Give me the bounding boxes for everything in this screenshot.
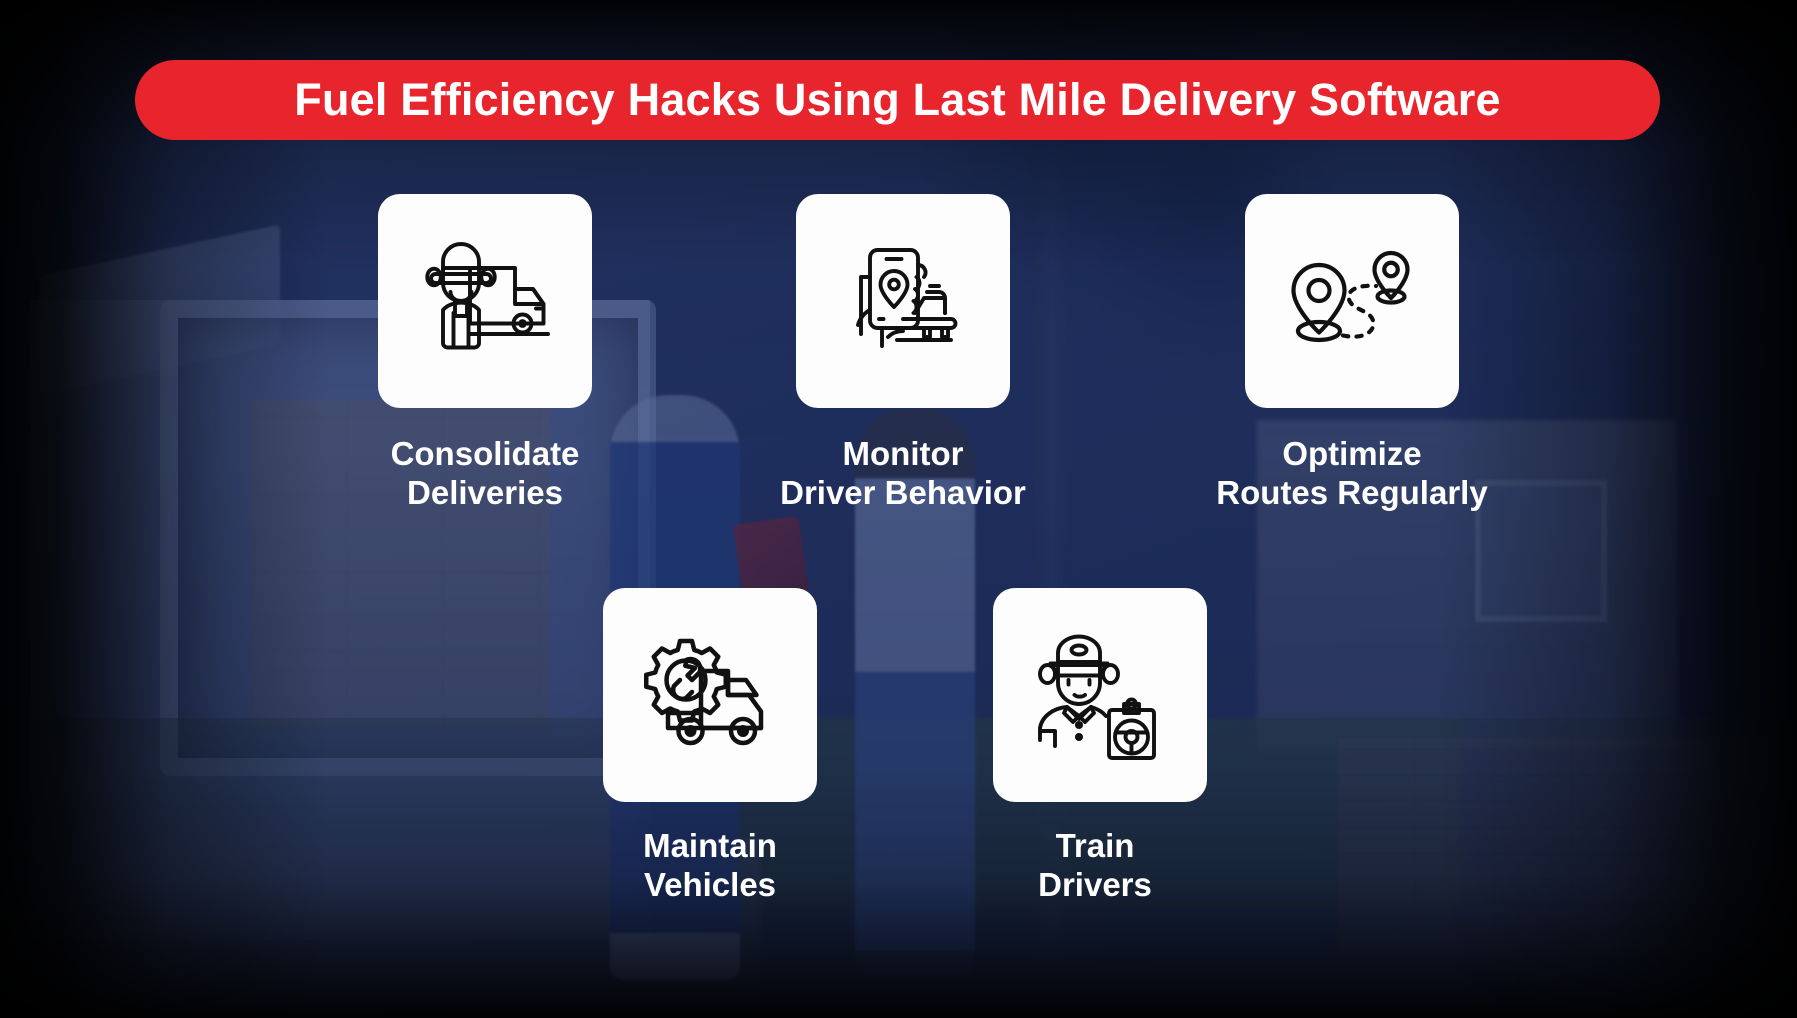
icon-card-monitor-driver-behavior[interactable] [796, 194, 1010, 408]
label-optimize-routes-regularly: Optimize Routes Regularly [1142, 435, 1562, 513]
icon-card-train-drivers[interactable] [993, 588, 1207, 802]
label-maintain-vehicles: Maintain Vehicles [500, 827, 920, 905]
label-monitor-driver-behavior: Monitor Driver Behavior [693, 435, 1113, 513]
icon-card-consolidate-deliveries[interactable] [378, 194, 592, 408]
hand-phone-location-car-icon [828, 226, 978, 376]
icon-card-maintain-vehicles[interactable] [603, 588, 817, 802]
label-train-drivers: Train Drivers [885, 827, 1305, 905]
infographic-stage: Fuel Efficiency Hacks Using Last Mile De… [0, 0, 1797, 1018]
driver-clipboard-steering-wheel-icon [1025, 620, 1175, 770]
icon-card-optimize-routes-regularly[interactable] [1245, 194, 1459, 408]
truck-gear-wrench-icon [635, 620, 785, 770]
page-title: Fuel Efficiency Hacks Using Last Mile De… [294, 74, 1500, 126]
route-map-pins-icon [1277, 226, 1427, 376]
label-consolidate-deliveries: Consolidate Deliveries [275, 435, 695, 513]
title-banner: Fuel Efficiency Hacks Using Last Mile De… [135, 60, 1660, 140]
delivery-person-truck-icon [410, 226, 560, 376]
